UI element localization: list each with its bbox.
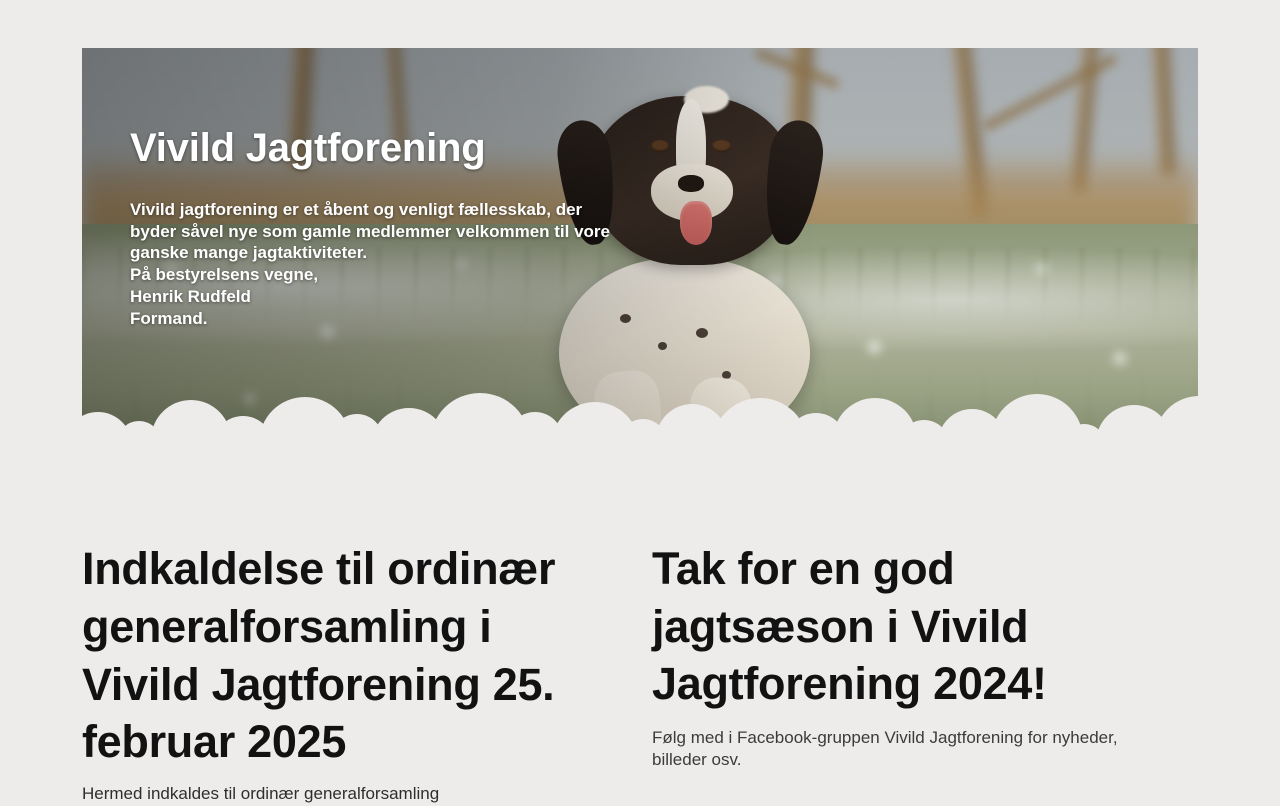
- article-subtitle: Hermed indkaldes til ordinær generalfors…: [82, 783, 607, 806]
- article-columns: Indkaldelse til ordinær generalforsamlin…: [82, 540, 1198, 806]
- hero-body-line: ganske mange jagtaktiviteter.: [130, 242, 690, 264]
- hero-title: Vivild Jagtforening: [130, 126, 690, 171]
- hero-body-line: Vivild jagtforening er et åbent og venli…: [130, 199, 690, 221]
- scallop-circle: [1155, 396, 1198, 448]
- hero-text-block: Vivild Jagtforening Vivild jagtforening …: [130, 126, 690, 329]
- hero-body-line: På bestyrelsens vegne,: [130, 264, 690, 286]
- article-title[interactable]: Tak for en god jagtsæson i Vivild Jagtfo…: [652, 540, 1177, 713]
- hero-banner: Vivild Jagtforening Vivild jagtforening …: [82, 48, 1198, 448]
- cloud-scallop-divider: [82, 380, 1198, 448]
- article-card-right[interactable]: Tak for en god jagtsæson i Vivild Jagtfo…: [652, 540, 1177, 806]
- hero-body-line: Henrik Rudfeld: [130, 286, 690, 308]
- article-title[interactable]: Indkaldelse til ordinær generalforsamlin…: [82, 540, 607, 771]
- hero-body-line: byder såvel nye som gamle medlemmer velk…: [130, 221, 690, 243]
- hero-body-line: Formand.: [130, 308, 690, 330]
- page-root: Vivild Jagtforening Vivild jagtforening …: [0, 0, 1280, 800]
- hero-body: Vivild jagtforening er et åbent og venli…: [130, 199, 690, 330]
- article-subtitle: Følg med i Facebook-gruppen Vivild Jagtf…: [652, 727, 1177, 772]
- article-card-left[interactable]: Indkaldelse til ordinær generalforsamlin…: [82, 540, 607, 806]
